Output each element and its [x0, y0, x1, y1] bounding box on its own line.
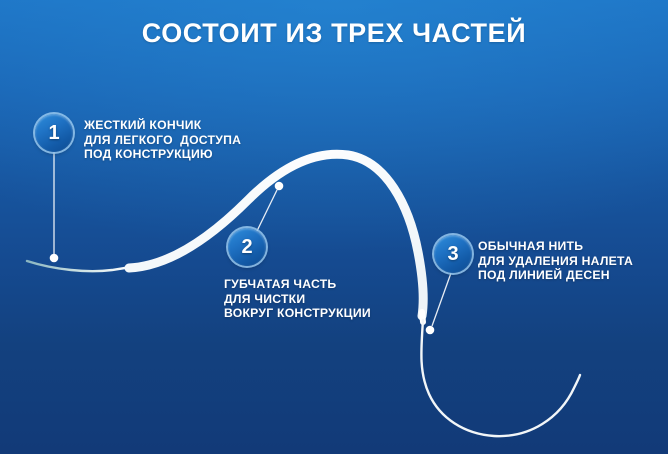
callout-badge-3[interactable]: 3 — [434, 235, 472, 273]
callout-badge-3-number: 3 — [447, 244, 458, 264]
callout-text-2: ГУБЧАТАЯ ЧАСТЬ ДЛЯ ЧИСТКИ ВОКРУГ КОНСТРУ… — [224, 277, 371, 321]
callout-leaders — [0, 0, 668, 454]
leader-dot-2 — [275, 182, 284, 191]
regular-floss-path — [421, 320, 580, 436]
spongy-taper — [422, 312, 423, 322]
leader-line-2 — [256, 190, 277, 233]
callout-badge-2-number: 2 — [241, 237, 252, 257]
floss-illustration — [0, 0, 668, 454]
callout-text-3: ОБЫЧНАЯ НИТЬ ДЛЯ УДАЛЕНИЯ НАЛЕТА ПОД ЛИН… — [478, 239, 633, 283]
callout-text-1: ЖЕСТКИЙ КОНЧИК ДЛЯ ЛЕГКОГО ДОСТУПА ПОД К… — [84, 118, 241, 162]
leader-line-3 — [432, 273, 451, 326]
leader-dot-3 — [426, 326, 435, 335]
leader-dot-1 — [50, 254, 59, 263]
page-title: СОСТОИТ ИЗ ТРЕХ ЧАСТЕЙ — [0, 18, 668, 49]
callout-badge-2[interactable]: 2 — [228, 228, 266, 266]
callout-badge-1-number: 1 — [48, 123, 59, 143]
stiff-tip-path — [27, 261, 131, 271]
callout-badge-1[interactable]: 1 — [35, 114, 73, 152]
infographic-slide: СОСТОИТ ИЗ ТРЕХ ЧАСТЕЙ — [0, 0, 668, 454]
